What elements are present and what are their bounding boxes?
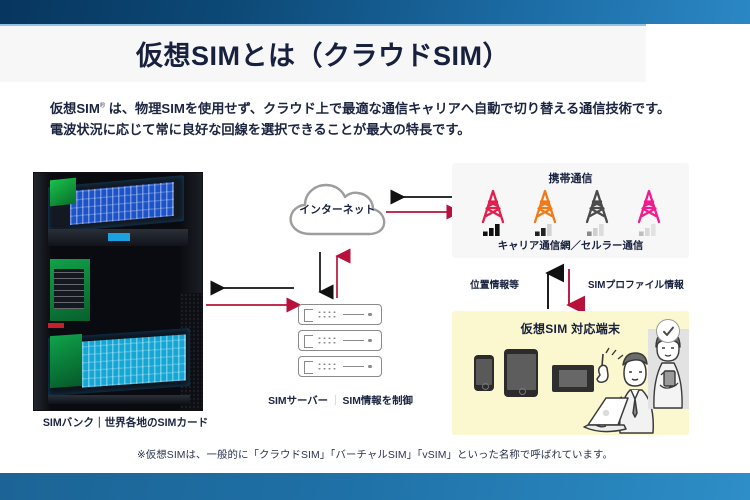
lead-line2: 電波状況に応じて常に良好な回線を選択できることが最大の特長です。 — [50, 122, 470, 137]
lead-line1-term: 仮想SIM — [50, 101, 100, 116]
bottom-brand-bar — [0, 473, 750, 500]
cell-tower-icon — [582, 189, 612, 223]
smartphone-icon — [474, 355, 494, 391]
internet-cloud-label: インターネット — [285, 202, 390, 217]
carrier-tower-row — [452, 189, 689, 223]
sim-server-unit — [298, 356, 382, 377]
signal-bars-icon — [482, 223, 504, 236]
sim-server-caption-sub: SIM情報を制御 — [342, 396, 412, 407]
mobile-panel-title: 携帯通信 — [452, 170, 689, 186]
mobile-panel-subtitle: キャリア通信網／セルラー通信 — [452, 237, 689, 252]
page-title: 仮想SIMとは（クラウドSIM） — [136, 34, 510, 73]
carrier-tower-3 — [582, 189, 612, 223]
sim-bank-caption-sub: 世界各地のSIMカード — [105, 417, 209, 429]
sim-server-caption: SIMサーバー｜SIM情報を制御 — [248, 392, 433, 407]
arrow-group-bank-server — [204, 283, 298, 317]
sim-bank-caption: SIMバンク｜世界各地のSIMカード — [33, 415, 218, 430]
slide-root: 仮想SIMとは（クラウドSIM） 仮想SIM® は、物理SIMを使用せず、クラウ… — [0, 0, 750, 500]
cell-tower-icon — [634, 189, 664, 223]
sim-profile-info-label: SIMプロファイル情報 — [588, 277, 684, 291]
arrow-group-profile-exchange — [540, 267, 588, 311]
check-badge-icon — [656, 319, 680, 343]
title-band-accent-rule — [0, 24, 646, 26]
sim-server-unit — [298, 330, 382, 351]
signal-bars-icon — [586, 223, 608, 236]
lead-line1-rest: は、物理SIMを使用せず、クラウド上で最適な通信キャリアへ自動で切り替える通信技… — [105, 101, 670, 116]
signal-bars-icon — [534, 223, 556, 236]
carrier-tower-4 — [634, 189, 664, 223]
sim-bank-caption-main: SIMバンク — [43, 417, 94, 429]
sim-server-unit — [298, 304, 382, 325]
lead-paragraph: 仮想SIM® は、物理SIMを使用せず、クラウド上で最適な通信キャリアへ自動で切… — [50, 98, 706, 141]
carrier-tower-1 — [478, 189, 508, 223]
title-band: 仮想SIMとは（クラウドSIM） — [0, 24, 646, 82]
sim-server-stack — [298, 304, 380, 382]
signal-bars-icon — [638, 223, 660, 236]
tablet-icon — [504, 349, 538, 397]
mobile-communication-panel: 携帯通信 — [452, 163, 689, 258]
top-brand-bar — [0, 0, 750, 24]
carrier-tower-2 — [530, 189, 560, 223]
sim-server-caption-main: SIMサーバー — [268, 396, 328, 407]
cell-tower-icon — [478, 189, 508, 223]
virtual-sim-device-panel: 仮想SIM 対応端末 — [452, 311, 689, 435]
arrow-group-cloud-mobile — [384, 192, 456, 222]
sim-server-caption-sep: ｜ — [328, 396, 342, 407]
arrow-group-cloud-server — [312, 250, 354, 300]
cell-tower-icon — [530, 189, 560, 223]
sim-bank-caption-sep: ｜ — [94, 417, 105, 429]
footnote: ※仮想SIMは、一般的に「クラウドSIM」「バーチャルSIM」「vSIM」といっ… — [0, 446, 750, 461]
location-info-label: 位置情報等 — [470, 277, 519, 291]
sim-bank-photo: SIMカード SIM — [33, 172, 203, 411]
